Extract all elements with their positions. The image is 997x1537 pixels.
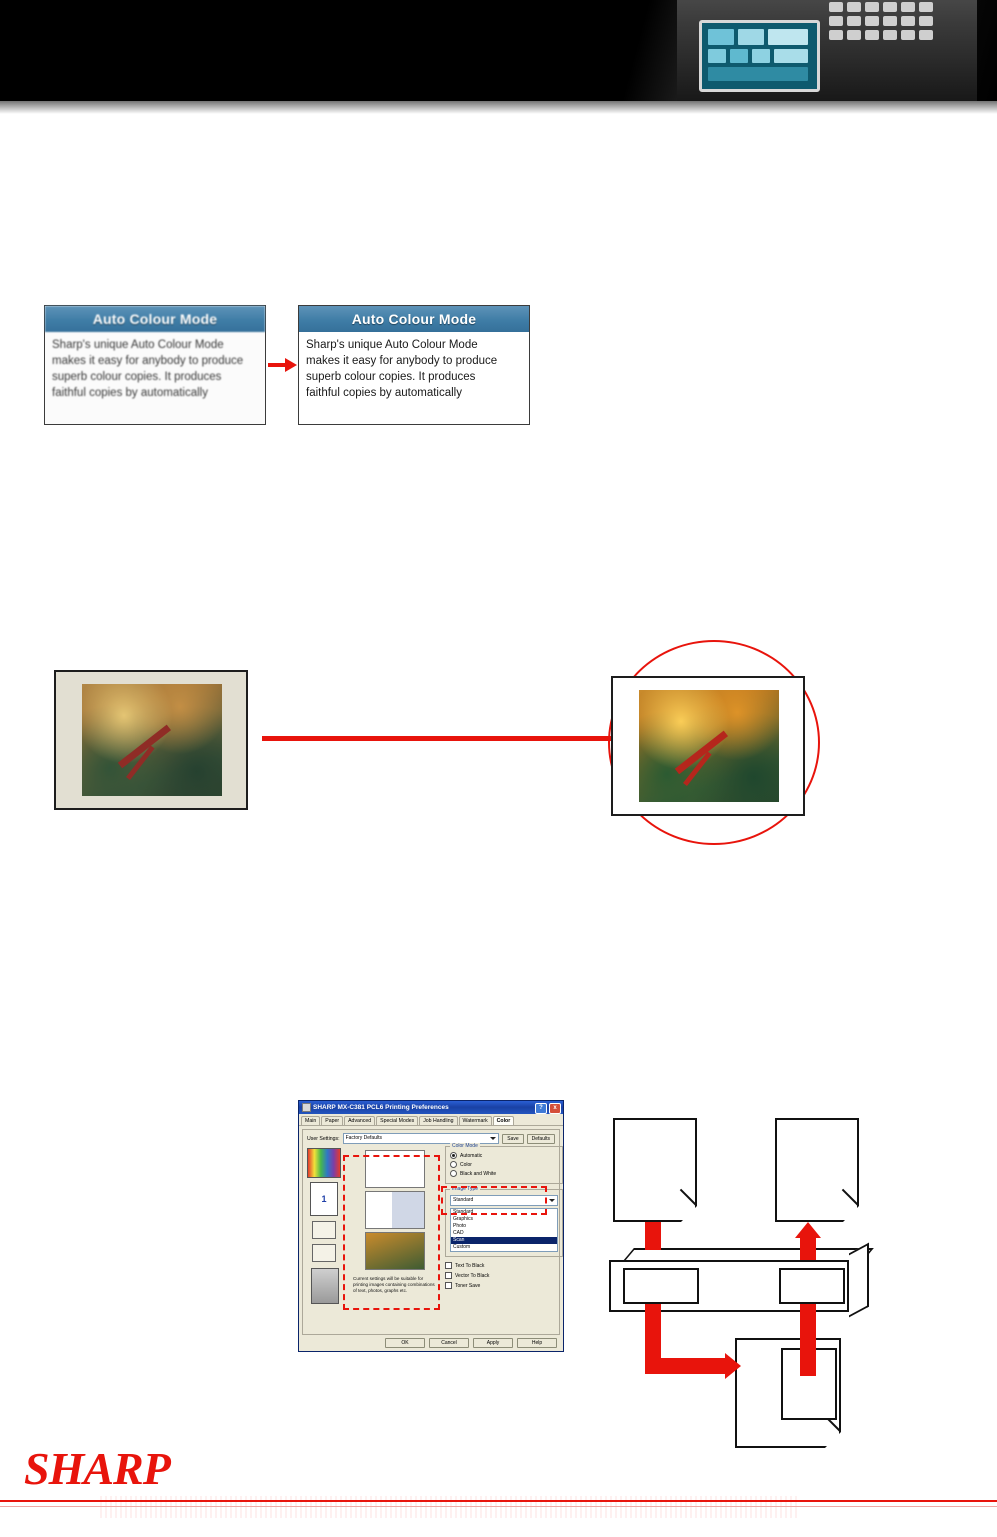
tab-color[interactable]: Color xyxy=(493,1116,515,1125)
radio-label: Color xyxy=(460,1162,472,1168)
apply-button[interactable]: Apply xyxy=(473,1338,513,1348)
paper-source-icon xyxy=(312,1221,336,1239)
flow-arrow-up-right-stem2 xyxy=(800,1238,816,1260)
radio-label: Automatic xyxy=(460,1153,482,1159)
text-sample-before: Auto Colour Mode Sharp's unique Auto Col… xyxy=(44,305,266,425)
color-mode-group: Color Mode Automatic Color Black and Whi… xyxy=(445,1146,563,1184)
help-button-footer[interactable]: Help xyxy=(517,1338,557,1348)
dogear-fold-line xyxy=(680,1189,697,1206)
defaults-button[interactable]: Defaults xyxy=(527,1134,555,1144)
list-item-selected[interactable]: Scan xyxy=(451,1237,557,1244)
dogear-fold-line xyxy=(842,1189,859,1206)
highlight-image-type-preview xyxy=(343,1155,440,1310)
page-preview-icon: 1 xyxy=(310,1182,338,1216)
flow-arrow-up-right-stem xyxy=(800,1304,816,1376)
text-demo-arrow-icon xyxy=(268,363,286,367)
tab-watermark[interactable]: Watermark xyxy=(459,1116,492,1125)
text-sample-before-title: Auto Colour Mode xyxy=(45,306,265,332)
dogear-icon xyxy=(825,1432,841,1448)
user-settings-label: User Settings: xyxy=(307,1136,340,1142)
text-line: superb colour copies. It produces xyxy=(52,369,258,385)
checkbox-label: Text To Black xyxy=(455,1263,484,1269)
highlight-image-type-control xyxy=(441,1186,547,1215)
checkbox-label: Vector To Black xyxy=(455,1273,489,1279)
tab-paper[interactable]: Paper xyxy=(321,1116,343,1125)
dialog-title-buttons[interactable]: ? x xyxy=(535,1103,561,1114)
text-line: makes it easy for anybody to produce xyxy=(52,353,258,369)
tab-special-modes[interactable]: Special Modes xyxy=(376,1116,418,1125)
checkbox-vector-to-black[interactable]: Vector To Black xyxy=(445,1272,563,1279)
options-pane: Color Mode Automatic Color Black and Whi… xyxy=(445,1146,563,1292)
photo-after-image xyxy=(639,690,779,802)
dialog-tabs[interactable]: Main Paper Advanced Special Modes Job Ha… xyxy=(299,1114,563,1126)
header-mfp-photo xyxy=(567,0,997,101)
dogear-icon xyxy=(681,1206,697,1222)
flow-arrow-head-right-icon xyxy=(725,1353,741,1379)
tab-advanced[interactable]: Advanced xyxy=(344,1116,375,1125)
flow-arrow-down-left-stem xyxy=(645,1222,661,1250)
text-sample-after-title: Auto Colour Mode xyxy=(299,306,529,332)
radio-color[interactable]: Color xyxy=(450,1161,558,1168)
tray-slot-left xyxy=(623,1268,699,1304)
tab-job-handling[interactable]: Job Handling xyxy=(419,1116,457,1125)
ok-button[interactable]: OK xyxy=(385,1338,425,1348)
dialog-title-text: SHARP MX-C381 PCL6 Printing Preferences xyxy=(313,1101,449,1114)
sharp-logo: SHARP xyxy=(24,1442,170,1495)
help-button[interactable]: ? xyxy=(535,1103,547,1114)
text-sample-after-body: Sharp's unique Auto Colour Mode makes it… xyxy=(299,332,529,407)
cancel-button[interactable]: Cancel xyxy=(429,1338,469,1348)
preview-pane: 1 xyxy=(307,1148,345,1328)
colour-spectrum-swatch-icon xyxy=(307,1148,341,1178)
checkbox-icon[interactable] xyxy=(445,1272,452,1279)
printer-illustration-icon xyxy=(311,1268,339,1304)
checkbox-text-to-black[interactable]: Text To Black xyxy=(445,1262,563,1269)
text-line: Sharp's unique Auto Colour Mode xyxy=(306,337,522,353)
save-button[interactable]: Save xyxy=(502,1134,523,1144)
mfp-touch-panel-icon xyxy=(699,20,820,92)
radio-icon[interactable] xyxy=(450,1170,457,1177)
text-sample-before-body: Sharp's unique Auto Colour Mode makes it… xyxy=(45,332,265,407)
radio-icon[interactable] xyxy=(450,1161,457,1168)
header-banner xyxy=(0,0,997,101)
checkbox-icon[interactable] xyxy=(445,1282,452,1289)
radio-automatic[interactable]: Automatic xyxy=(450,1152,558,1159)
mfp-body-icon xyxy=(677,0,977,101)
header-shadow xyxy=(0,101,997,114)
close-button[interactable]: x xyxy=(549,1103,561,1114)
photo-before-frame xyxy=(54,670,248,810)
text-line: superb colour copies. It produces xyxy=(306,369,522,385)
tab-main[interactable]: Main xyxy=(301,1116,320,1125)
list-item[interactable]: Photo xyxy=(451,1223,557,1230)
text-line: faithful copies by automatically xyxy=(306,385,522,401)
photo-before-image xyxy=(82,684,222,796)
checkbox-icon[interactable] xyxy=(445,1262,452,1269)
tray-side-face xyxy=(849,1243,869,1318)
color-mode-legend: Color Mode xyxy=(450,1143,480,1149)
photo-after-frame xyxy=(611,676,805,816)
radio-black-and-white[interactable]: Black and White xyxy=(450,1170,558,1177)
flow-arrow-head-up-icon xyxy=(795,1222,821,1238)
footer-rule xyxy=(0,1500,997,1502)
list-item[interactable]: Graphics xyxy=(451,1216,557,1223)
footer-rule-secondary xyxy=(0,1506,997,1507)
sheet-top-right xyxy=(775,1118,859,1222)
dialog-footer[interactable]: OK Cancel Apply Help xyxy=(299,1338,563,1348)
dialog-title-bar: SHARP MX-C381 PCL6 Printing Preferences … xyxy=(299,1101,563,1114)
list-item[interactable]: CAD xyxy=(451,1230,557,1237)
mfp-keypad-icon xyxy=(829,2,961,42)
tray-slot-right xyxy=(779,1268,845,1304)
printer-icon xyxy=(302,1103,311,1112)
output-icon xyxy=(312,1244,336,1262)
user-settings-row: User Settings: Factory Defaults Save Def… xyxy=(303,1130,559,1147)
text-line: faithful copies by automatically xyxy=(52,385,258,401)
checkbox-toner-save[interactable]: Toner Save xyxy=(445,1282,563,1289)
list-item[interactable]: Custom xyxy=(451,1244,557,1251)
radio-icon[interactable] xyxy=(450,1152,457,1159)
flow-arrow-to-bottom-sheet-stem xyxy=(645,1358,725,1374)
checkbox-label: Toner Save xyxy=(455,1283,480,1289)
sheet-top-left xyxy=(613,1118,697,1222)
text-line: makes it easy for anybody to produce xyxy=(306,353,522,369)
dogear-icon xyxy=(843,1206,859,1222)
text-sample-after: Auto Colour Mode Sharp's unique Auto Col… xyxy=(298,305,530,425)
radio-label: Black and White xyxy=(460,1171,496,1177)
text-line: Sharp's unique Auto Colour Mode xyxy=(52,337,258,353)
